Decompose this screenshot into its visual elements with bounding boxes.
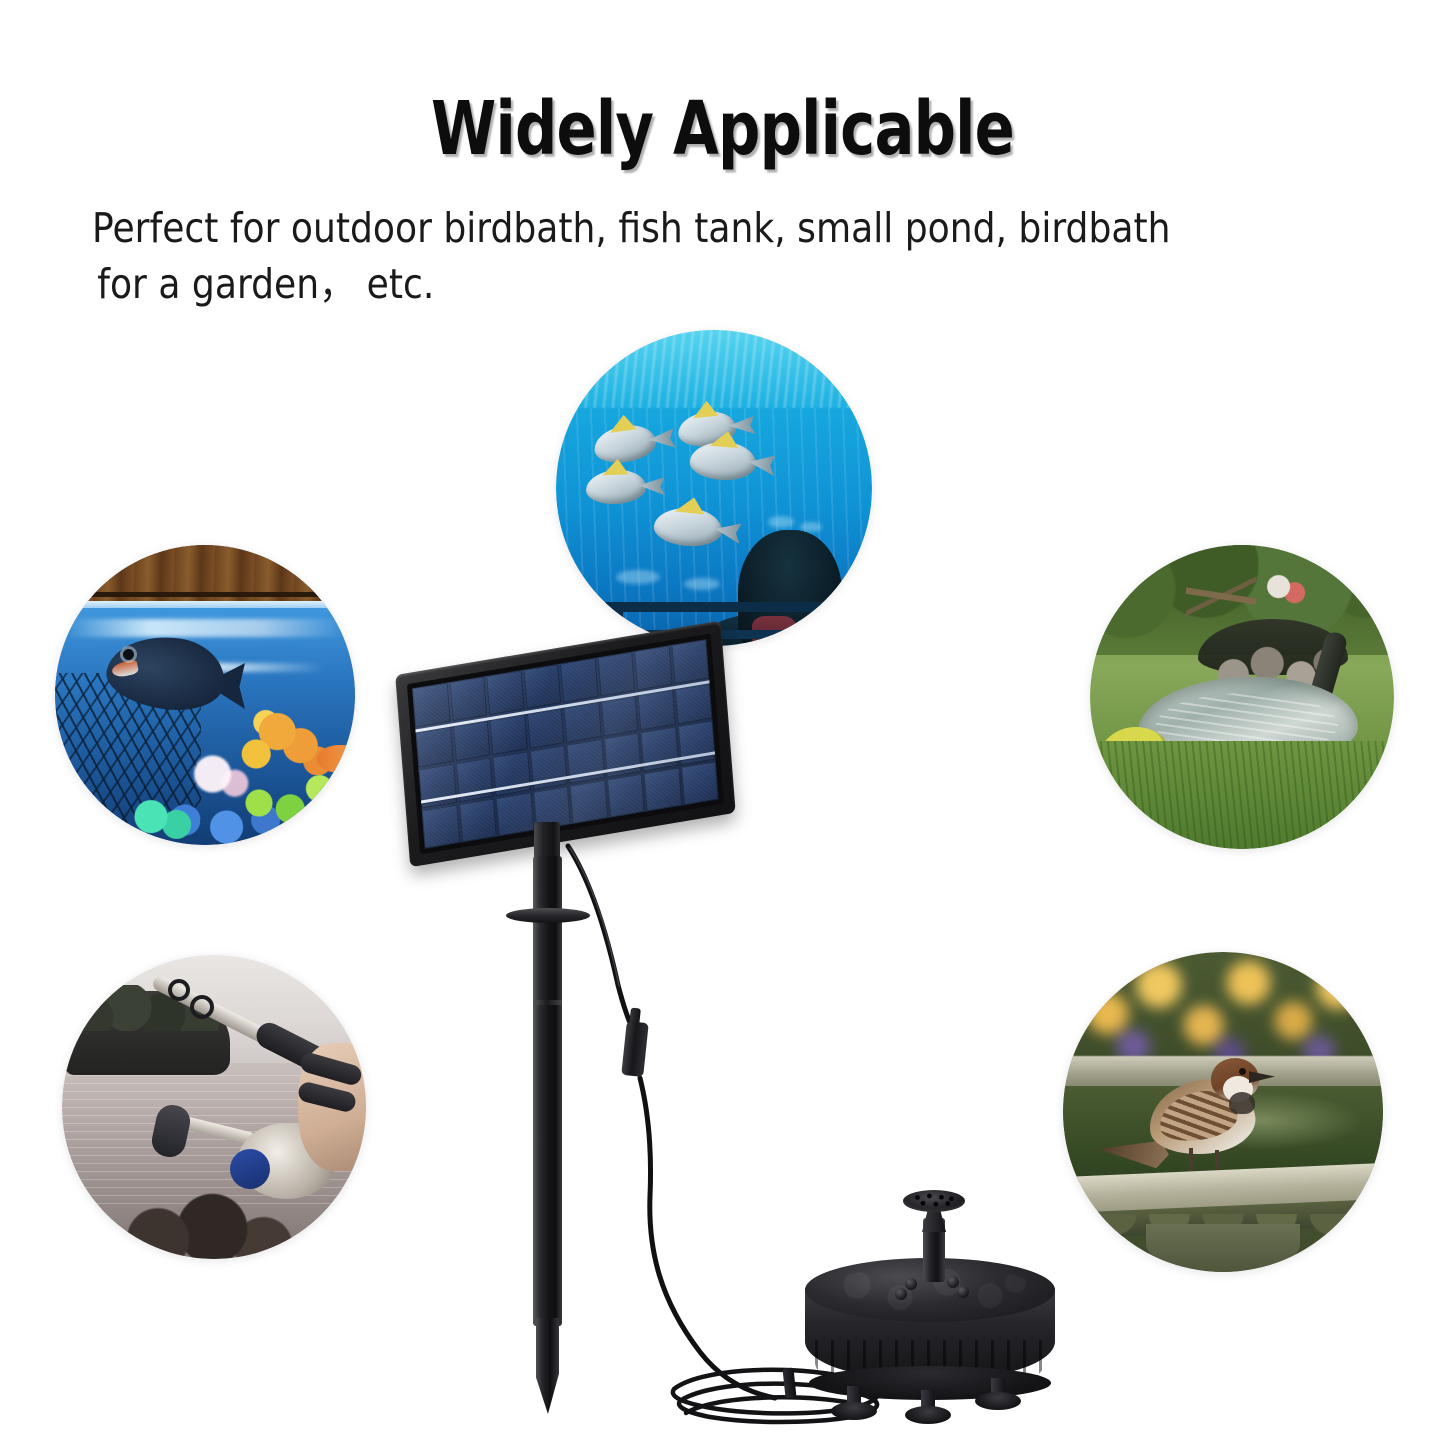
pump-screw-2	[947, 1276, 959, 1288]
power-cable	[0, 0, 1445, 1445]
pump-suction-foot-center	[905, 1406, 951, 1424]
product-illustration	[0, 0, 1445, 1445]
pump-screw-1	[905, 1278, 917, 1290]
pump-suction-foot-right	[975, 1392, 1021, 1410]
pump-suction-foot-left	[831, 1402, 877, 1420]
floating-pump-unit	[795, 1190, 1065, 1435]
cable-upper-segment	[568, 846, 632, 1028]
pump-screw-3	[895, 1288, 907, 1300]
pump-screw-4	[957, 1286, 969, 1298]
product-feature-image: Widely Applicable Perfect for outdoor bi…	[0, 0, 1445, 1445]
cable-lower-segment	[640, 1078, 775, 1398]
pump-nozzle-holes	[911, 1193, 957, 1208]
